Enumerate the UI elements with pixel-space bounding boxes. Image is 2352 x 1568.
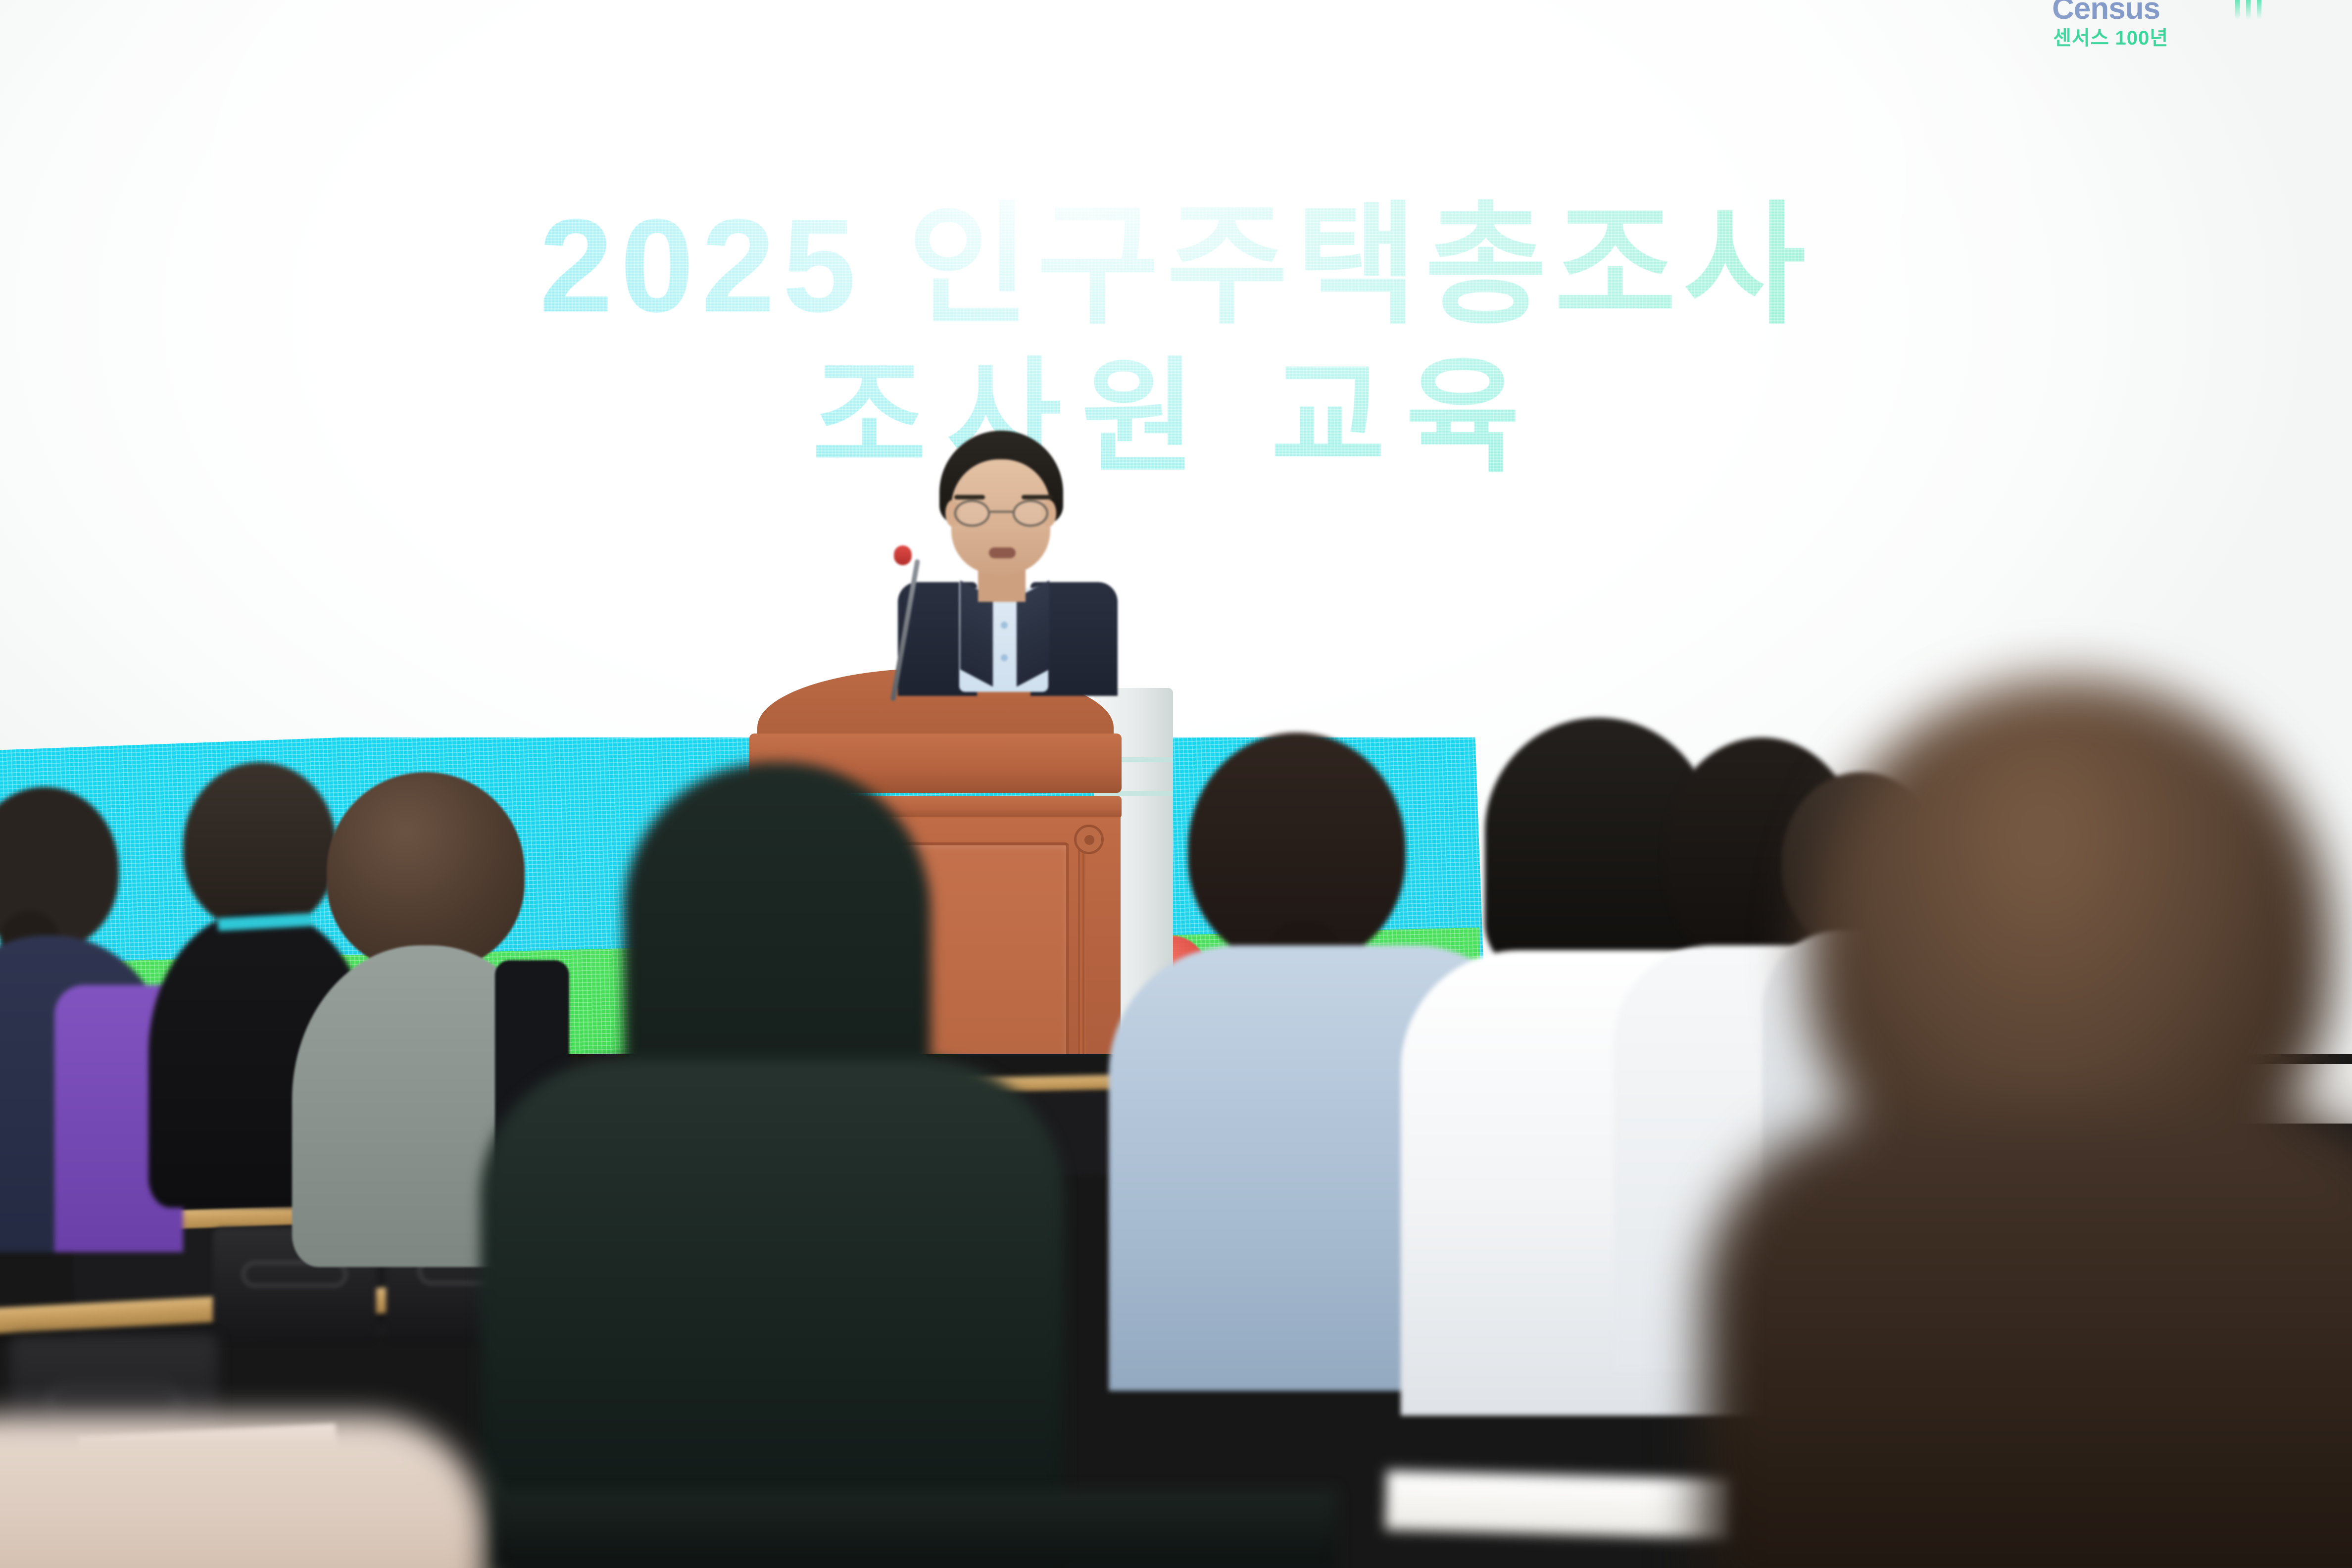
foreground-dark-bar [495,1490,1336,1568]
logo-rings-icon [2275,0,2352,36]
slide-title-line-2: 조사원 교육 [0,354,2352,481]
speaker-mouth [989,547,1016,558]
audience-person-right-4 [1722,678,2352,1568]
speaker-brow-left [954,495,985,499]
census-100-logo: Census 센서스 100년 [2037,0,2344,46]
microphone-head-icon [894,545,912,565]
speaker-brow-right [1022,495,1052,499]
logo-bars-icon [2235,0,2270,24]
slide-title-line-1: 2025 인구주택총조사 [0,198,2352,333]
census-subtitle: 센서스 100년 [2053,22,2168,50]
speaker-at-podium [876,431,1143,688]
speaker-shirt-button-1 [1001,622,1008,629]
speaker-shirt-button-2 [1001,654,1008,661]
slide-title: 2025 인구주택총조사 조사원 교육 [0,198,2352,481]
paper-stack-6 [1385,1470,1733,1539]
conference-photo-scene: Census 센서스 100년 2025 인구주택총조사 조사원 교육 통계청 [0,0,2352,1568]
podium-rosette-right [1074,825,1104,854]
glasses-icon [951,500,1051,527]
